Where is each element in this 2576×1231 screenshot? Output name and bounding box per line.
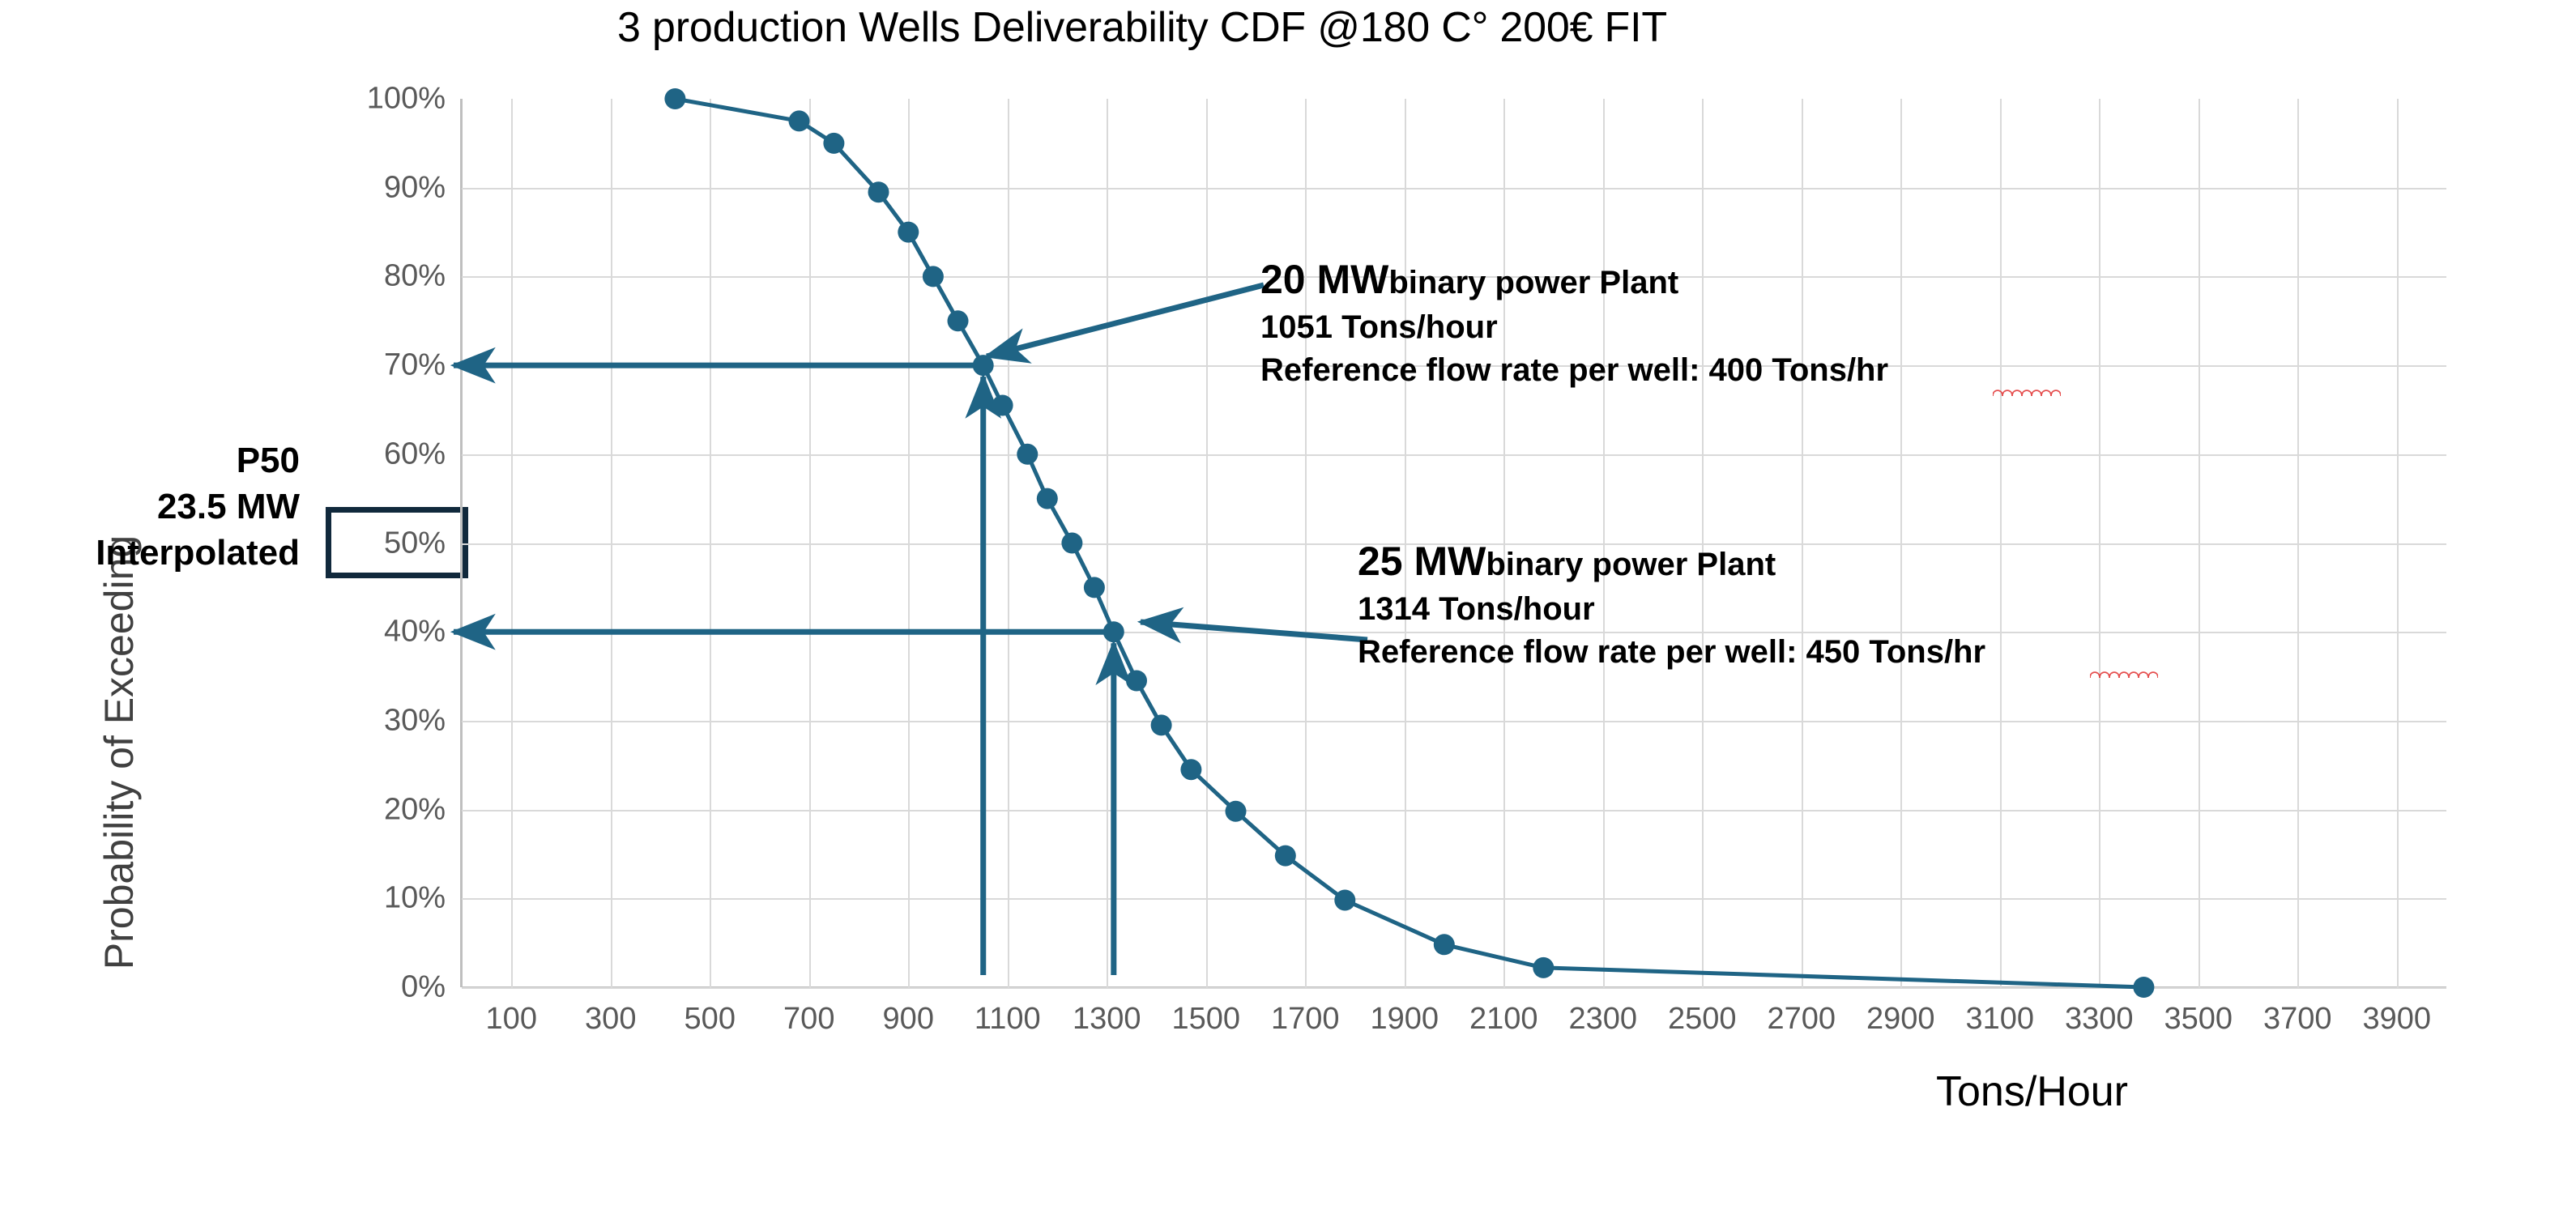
p50-value: 23.5 MW — [0, 483, 300, 530]
spellcheck-underline-icon — [2090, 670, 2158, 678]
gridline-vertical — [1206, 99, 1208, 987]
spellcheck-underline-icon — [1993, 388, 2061, 396]
annotation-20mw-headline: 20 MWbinary power Plant — [1260, 256, 1888, 303]
gridline-vertical — [611, 99, 612, 987]
gridline-horizontal — [462, 454, 2446, 456]
p50-label: P50 — [0, 437, 300, 483]
annotation-25mw-value: 25 MW — [1358, 539, 1486, 584]
gridline-vertical — [511, 99, 513, 987]
gridline-vertical — [2199, 99, 2200, 987]
y-tick-0pct: 0% — [316, 970, 446, 1005]
gridline-vertical — [2099, 99, 2100, 987]
y-tick-100pct: 100% — [316, 82, 446, 117]
annotation-25mw-flow: 1314 Tons/hour — [1358, 591, 1985, 628]
x-tick-3900: 3900 — [2316, 1002, 2478, 1037]
gridline-horizontal — [462, 188, 2446, 190]
annotation-25mw: 25 MWbinary power Plant 1314 Tons/hour R… — [1358, 538, 1985, 671]
gridline-vertical — [908, 99, 910, 987]
y-tick-60pct: 60% — [316, 437, 446, 471]
annotation-20mw-flow: 1051 Tons/hour — [1260, 309, 1888, 346]
gridline-horizontal — [462, 721, 2446, 722]
gridline-horizontal — [462, 898, 2446, 900]
y-tick-40pct: 40% — [316, 615, 446, 650]
y-tick-20pct: 20% — [316, 792, 446, 827]
x-axis-title: Tons/Hour — [1936, 1067, 2128, 1116]
annotation-20mw-value: 20 MW — [1260, 257, 1388, 302]
y-tick-30pct: 30% — [316, 703, 446, 738]
y-tick-80pct: 80% — [316, 259, 446, 294]
gridline-vertical — [2297, 99, 2299, 987]
gridline-vertical — [1008, 99, 1009, 987]
gridline-vertical — [2000, 99, 2002, 987]
annotation-25mw-reference-text: Reference flow rate per well: 450 Tons/h… — [1358, 634, 1985, 670]
y-tick-90pct: 90% — [316, 170, 446, 205]
p50-method: Interpolated — [0, 530, 300, 576]
gridline-vertical — [710, 99, 711, 987]
annotation-20mw-reference-text: Reference flow rate per well: 400 Tons/h… — [1260, 352, 1888, 388]
gridline-horizontal — [462, 810, 2446, 811]
y-tick-70pct: 70% — [316, 348, 446, 383]
annotation-20mw-rest: binary power Plant — [1388, 265, 1678, 300]
p50-callout: P50 23.5 MW Interpolated — [0, 437, 300, 577]
annotation-25mw-rest: binary power Plant — [1486, 547, 1776, 582]
y-tick-10pct: 10% — [316, 881, 446, 916]
gridline-vertical — [1305, 99, 1307, 987]
chart-canvas: 3 production Wells Deliverability CDF @1… — [0, 0, 2576, 1231]
annotation-25mw-headline: 25 MWbinary power Plant — [1358, 538, 1985, 585]
gridline-vertical — [2397, 99, 2399, 987]
annotation-25mw-reference: Reference flow rate per well: 450 Tons/h… — [1358, 634, 1985, 671]
annotation-20mw-reference: Reference flow rate per well: 400 Tons/h… — [1260, 352, 1888, 389]
gridline-vertical — [809, 99, 811, 987]
gridline-vertical — [1107, 99, 1108, 987]
chart-title: 3 production Wells Deliverability CDF @1… — [0, 3, 2430, 52]
annotation-20mw: 20 MWbinary power Plant 1051 Tons/hour R… — [1260, 256, 1888, 389]
y-tick-50pct: 50% — [316, 526, 446, 560]
gridline-horizontal — [462, 987, 2446, 989]
